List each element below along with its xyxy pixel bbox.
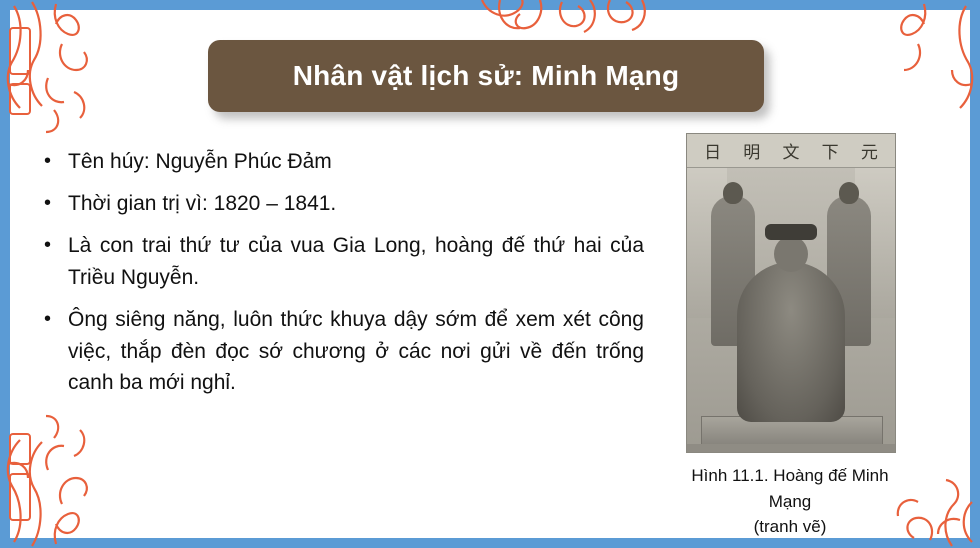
list-item: • Là con trai thứ tư của vua Gia Long, h… [44, 230, 644, 294]
emperor-head [774, 236, 808, 272]
calligraphy-glyph: 明 [743, 138, 760, 163]
slide-border-left [0, 0, 10, 548]
list-item-text: Là con trai thứ tư của vua Gia Long, hoà… [68, 230, 644, 294]
slide-border-bottom [0, 538, 980, 548]
slide-border-top [0, 0, 980, 10]
list-item: • Thời gian trị vì: 1820 – 1841. [44, 188, 644, 220]
calligraphy-glyph: 日 [704, 138, 721, 163]
attendant-head [723, 182, 743, 204]
slide: Nhân vật lịch sử: Minh Mạng • Tên húy: N… [0, 0, 980, 548]
bullet-list: • Tên húy: Nguyễn Phúc Đảm • Thời gian t… [44, 146, 644, 409]
figure-caption-line2: (tranh vẽ) [686, 514, 894, 540]
list-item-text: Tên húy: Nguyễn Phúc Đảm [68, 146, 644, 178]
list-item-text: Thời gian trị vì: 1820 – 1841. [68, 188, 644, 220]
calligraphy-glyph: 下 [822, 138, 839, 163]
figure-caption: Hình 11.1. Hoàng đế Minh Mạng (tranh vẽ) [686, 463, 894, 540]
calligraphy-band: 日 明 文 下 元 [687, 134, 895, 168]
list-item: • Tên húy: Nguyễn Phúc Đảm [44, 146, 644, 178]
painting-scene [687, 168, 895, 452]
list-item: • Ông siêng năng, luôn thức khuya dậy sớ… [44, 304, 644, 400]
figure-caption-line1: Hình 11.1. Hoàng đế Minh Mạng [691, 466, 888, 511]
figure-block: 日 明 文 下 元 [686, 133, 894, 540]
attendant-head [839, 182, 859, 204]
slide-border-right [970, 0, 980, 548]
figure-image: 日 明 文 下 元 [686, 133, 896, 453]
emperor-figure [737, 262, 845, 422]
calligraphy-glyph: 元 [861, 138, 878, 163]
bullet-marker-icon: • [44, 188, 68, 218]
bullet-marker-icon: • [44, 304, 68, 334]
bullet-marker-icon: • [44, 230, 68, 260]
painting-floor [687, 444, 895, 452]
page-title: Nhân vật lịch sử: Minh Mạng [293, 60, 680, 92]
list-item-text: Ông siêng năng, luôn thức khuya dậy sớm … [68, 304, 644, 400]
bullet-marker-icon: • [44, 146, 68, 176]
calligraphy-glyph: 文 [782, 138, 799, 163]
slide-title-banner: Nhân vật lịch sử: Minh Mạng [208, 40, 764, 112]
emperor-crown [765, 224, 817, 240]
